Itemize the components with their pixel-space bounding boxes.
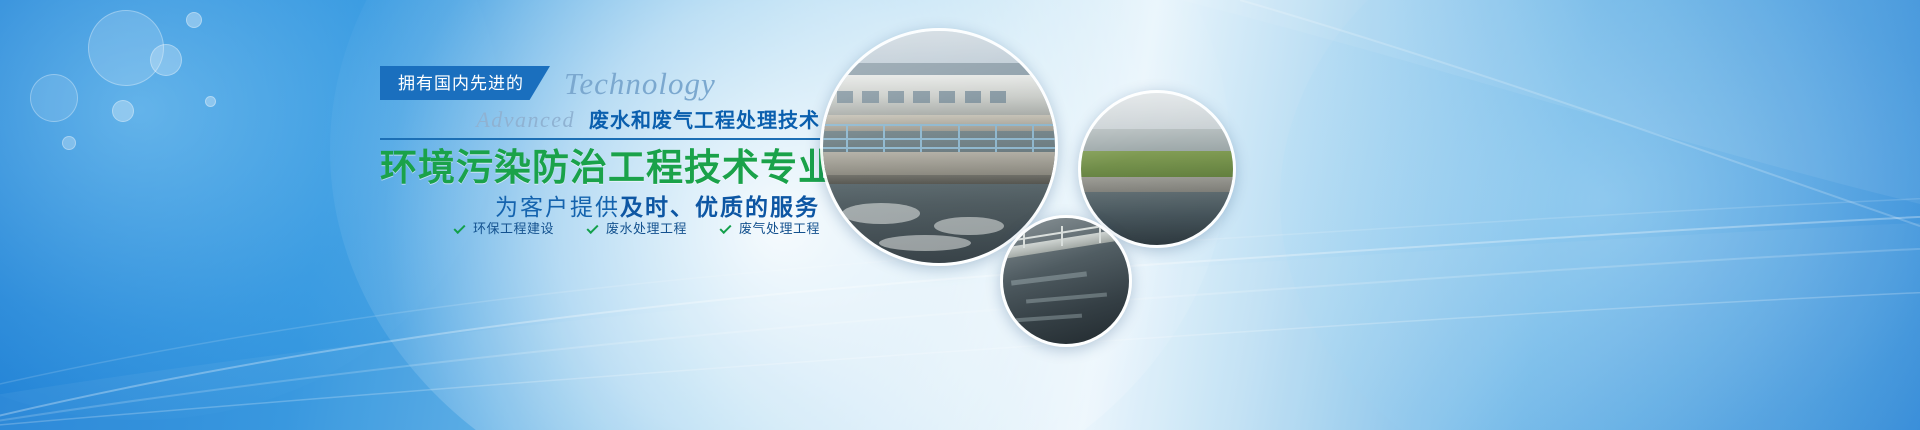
photo-railing-post [1032,124,1034,152]
photo-window [965,91,981,103]
advanced-row: Advanced 废水和废气工程处理技术 [380,104,820,140]
photo-walkway [823,152,1055,175]
photo-railing-post [958,124,960,152]
photo-foam [842,203,921,224]
check-icon [453,221,466,234]
photo-railing-post [1061,226,1063,246]
photo-foam [934,217,1004,236]
photo-window [990,91,1006,103]
check-icon [719,221,732,234]
technology-row: 拥有国内先进的 Technology [380,66,716,100]
background-glow-right [1280,0,1920,430]
list-item[interactable]: 废气处理工程 [719,218,820,237]
ribbon-tag: 拥有国内先进的 [380,66,550,100]
photo-railing-post [1023,228,1025,248]
photo-window [862,91,878,103]
photo-railing [823,138,1055,140]
ribbon-tag-label: 拥有国内先进的 [398,75,524,92]
photo-window [913,91,929,103]
photo-railing [823,147,1055,149]
technology-script-word: Technology [564,68,716,99]
tagline: 为客户提供及时、优质的服务 [380,188,820,222]
sedimentation-basin-photo [1000,215,1132,347]
photo-content [1003,218,1129,344]
photo-window [888,91,904,103]
feature-label: 废气处理工程 [739,218,820,237]
photo-window [837,91,853,103]
photo-cluster [810,0,1370,430]
feature-list: 环保工程建设 废水处理工程 废气处理工程 [368,218,820,237]
photo-window [939,91,955,103]
tagline-emphasis: 及时、优质的服务 [620,194,820,220]
photo-railing-post [995,124,997,152]
banner-copy: 拥有国内先进的 Technology Advanced 废水和废气工程处理技术 … [0,0,840,430]
feature-label: 环保工程建设 [473,218,554,237]
photo-railing-post [920,124,922,152]
check-icon [586,221,599,234]
photo-railing [823,124,1055,126]
photo-railing-post [1099,223,1101,243]
photo-building-roof [823,63,1055,75]
advanced-script-word: Advanced [476,107,575,133]
tagline-prefix: 为客户提供 [495,194,620,220]
list-item[interactable]: 废水处理工程 [586,218,687,237]
sub-headline: 废水和废气工程处理技术 [589,104,820,133]
photo-railing-post [883,124,885,152]
page-title: 环境污染防治工程技术专业顾问 [380,137,820,191]
photo-walkway-shadow [823,175,1055,184]
hero-banner: 拥有国内先进的 Technology Advanced 废水和废气工程处理技术 … [0,0,1920,430]
list-item[interactable]: 环保工程建设 [453,218,554,237]
photo-tank-wall [823,115,1055,131]
photo-railing-post [846,124,848,152]
feature-label: 废水处理工程 [606,218,687,237]
